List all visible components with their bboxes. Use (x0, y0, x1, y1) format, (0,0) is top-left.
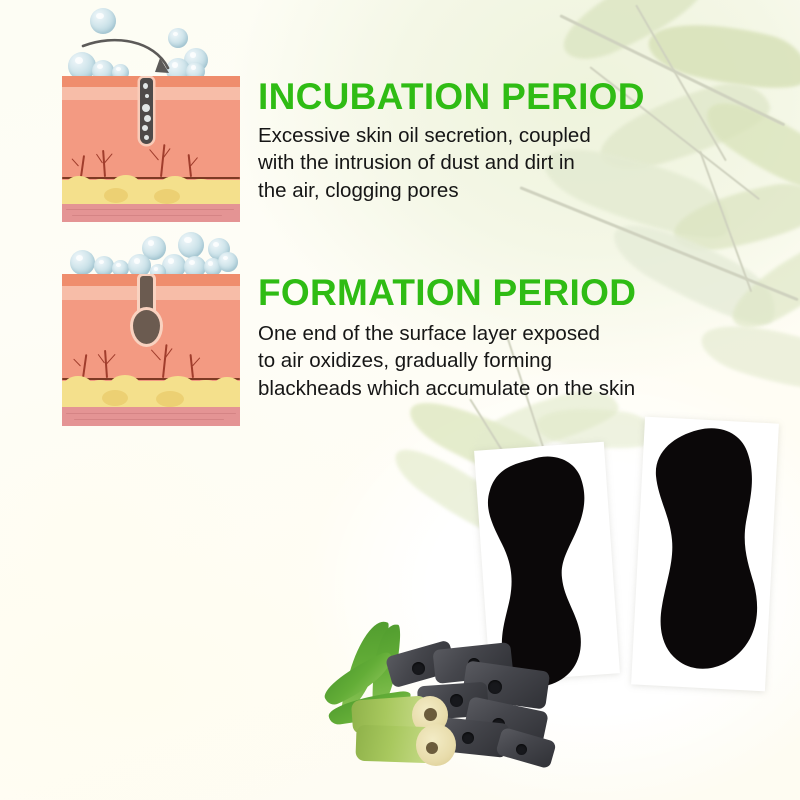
body-line: One end of the surface layer exposed (258, 320, 635, 347)
body-formation-period: One end of the surface layer exposed to … (258, 320, 635, 402)
body-incubation-period: Excessive skin oil secretion, coupled wi… (258, 122, 591, 204)
charcoal-hole (462, 732, 474, 744)
heading-formation-period: FORMATION PERIOD (258, 272, 636, 314)
diagram-formation (62, 232, 240, 428)
infographic-page: INCUBATION PERIOD Excessive skin oil sec… (0, 0, 800, 800)
dust-particle (145, 94, 149, 98)
fat-lobe (188, 179, 214, 196)
dust-particle (143, 83, 148, 89)
fat-lobe (154, 189, 180, 204)
fat-lobe (66, 176, 92, 194)
skin-cross-section (62, 274, 240, 426)
bubble (90, 8, 116, 34)
body-line: the air, clogging pores (258, 177, 591, 204)
muscle-streak (72, 215, 222, 216)
dust-particle (142, 125, 148, 131)
charcoal-hole (516, 744, 527, 755)
muscle-streak (74, 419, 224, 420)
bubble (94, 256, 114, 276)
muscle-streak (66, 413, 236, 414)
layer-muscle (62, 407, 240, 426)
bamboo-cut-hole (426, 742, 438, 754)
diagram-incubation (62, 2, 240, 222)
dust-particle (144, 115, 151, 122)
bamboo-charcoal-cluster (316, 618, 556, 786)
body-line: blackheads which accumulate on the skin (258, 375, 635, 402)
nose-strip-right (630, 424, 786, 692)
body-line: Excessive skin oil secretion, coupled (258, 122, 591, 149)
bubble (70, 250, 95, 275)
bubble (218, 252, 238, 272)
dust-particle (142, 104, 150, 112)
bubble (178, 232, 204, 258)
product-photo (300, 400, 800, 800)
body-line: to air oxidizes, gradually forming (258, 347, 635, 374)
skin-cross-section (62, 76, 240, 222)
pore-clogged (140, 78, 153, 144)
heading-incubation-period: INCUBATION PERIOD (258, 76, 645, 118)
charcoal-hole (450, 694, 463, 707)
fat-lobe (102, 390, 128, 406)
dust-particle (144, 135, 149, 140)
charcoal-hole (412, 662, 425, 675)
body-line: with the intrusion of dust and dirt in (258, 149, 591, 176)
fat-lobe (104, 188, 128, 203)
fat-lobe (214, 377, 240, 395)
charcoal-hole (488, 680, 502, 694)
muscle-streak (66, 209, 234, 210)
bamboo-cut-hole (424, 708, 437, 721)
fat-lobe (156, 391, 184, 407)
layer-muscle (62, 204, 240, 222)
